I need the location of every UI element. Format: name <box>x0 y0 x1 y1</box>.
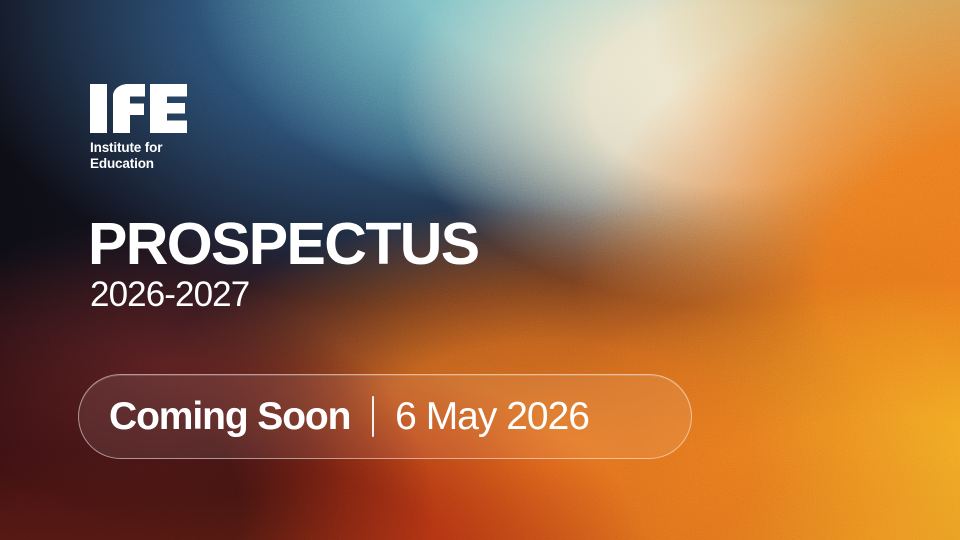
brand-logo-block: Institute for Education <box>90 84 187 172</box>
poster-content: Institute for Education PROSPECTUS 2026-… <box>0 0 960 540</box>
coming-soon-badge[interactable]: Coming Soon 6 May 2026 <box>78 374 692 459</box>
badge-separator-divider <box>372 396 374 437</box>
release-date-label: 6 May 2026 <box>395 397 589 436</box>
page-title: PROSPECTUS <box>88 215 479 274</box>
ife-wordmark-logo <box>90 84 187 133</box>
brand-tagline: Institute for Education <box>90 140 187 172</box>
status-badge-label: Coming Soon <box>109 397 350 436</box>
prospectus-poster: Institute for Education PROSPECTUS 2026-… <box>0 0 960 540</box>
page-subtitle-years: 2026-2027 <box>90 277 249 312</box>
